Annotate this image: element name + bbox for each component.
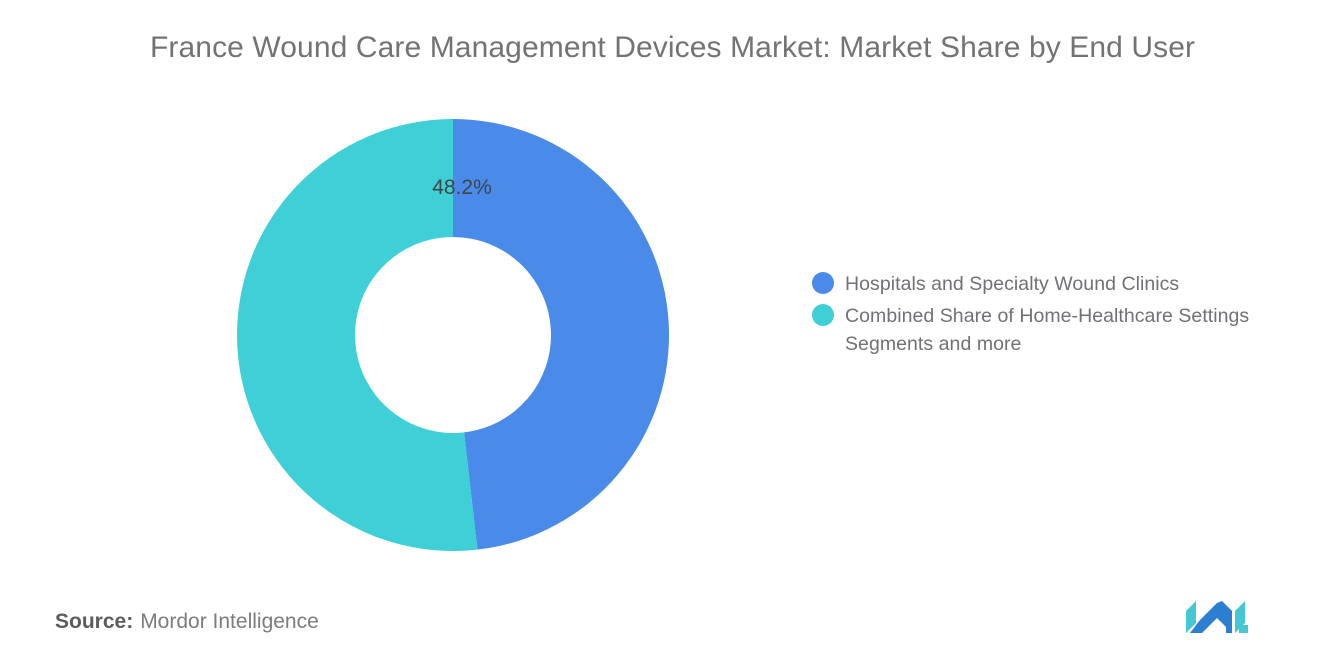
source-label: Source: (55, 610, 133, 633)
donut-chart: 48.2% (237, 119, 669, 551)
legend-item-label: Combined Share of Home-Healthcare Settin… (845, 302, 1282, 358)
legend-color-swatch-icon (812, 272, 834, 294)
slice-value-label: 48.2% (412, 176, 512, 200)
page-title: France Wound Care Management Devices Mar… (150, 30, 1250, 66)
legend-item-label: Hospitals and Specialty Wound Clinics (845, 270, 1179, 298)
legend-item-home-healthcare[interactable]: Combined Share of Home-Healthcare Settin… (812, 302, 1282, 358)
legend-item-hospitals[interactable]: Hospitals and Specialty Wound Clinics (812, 270, 1282, 298)
source-attribution: Source:Mordor Intelligence (55, 610, 319, 634)
chart-legend: Hospitals and Specialty Wound Clinics Co… (812, 270, 1282, 362)
legend-color-swatch-icon (812, 304, 834, 326)
source-value: Mordor Intelligence (140, 610, 319, 633)
mordor-intelligence-logo-icon (1186, 599, 1248, 637)
